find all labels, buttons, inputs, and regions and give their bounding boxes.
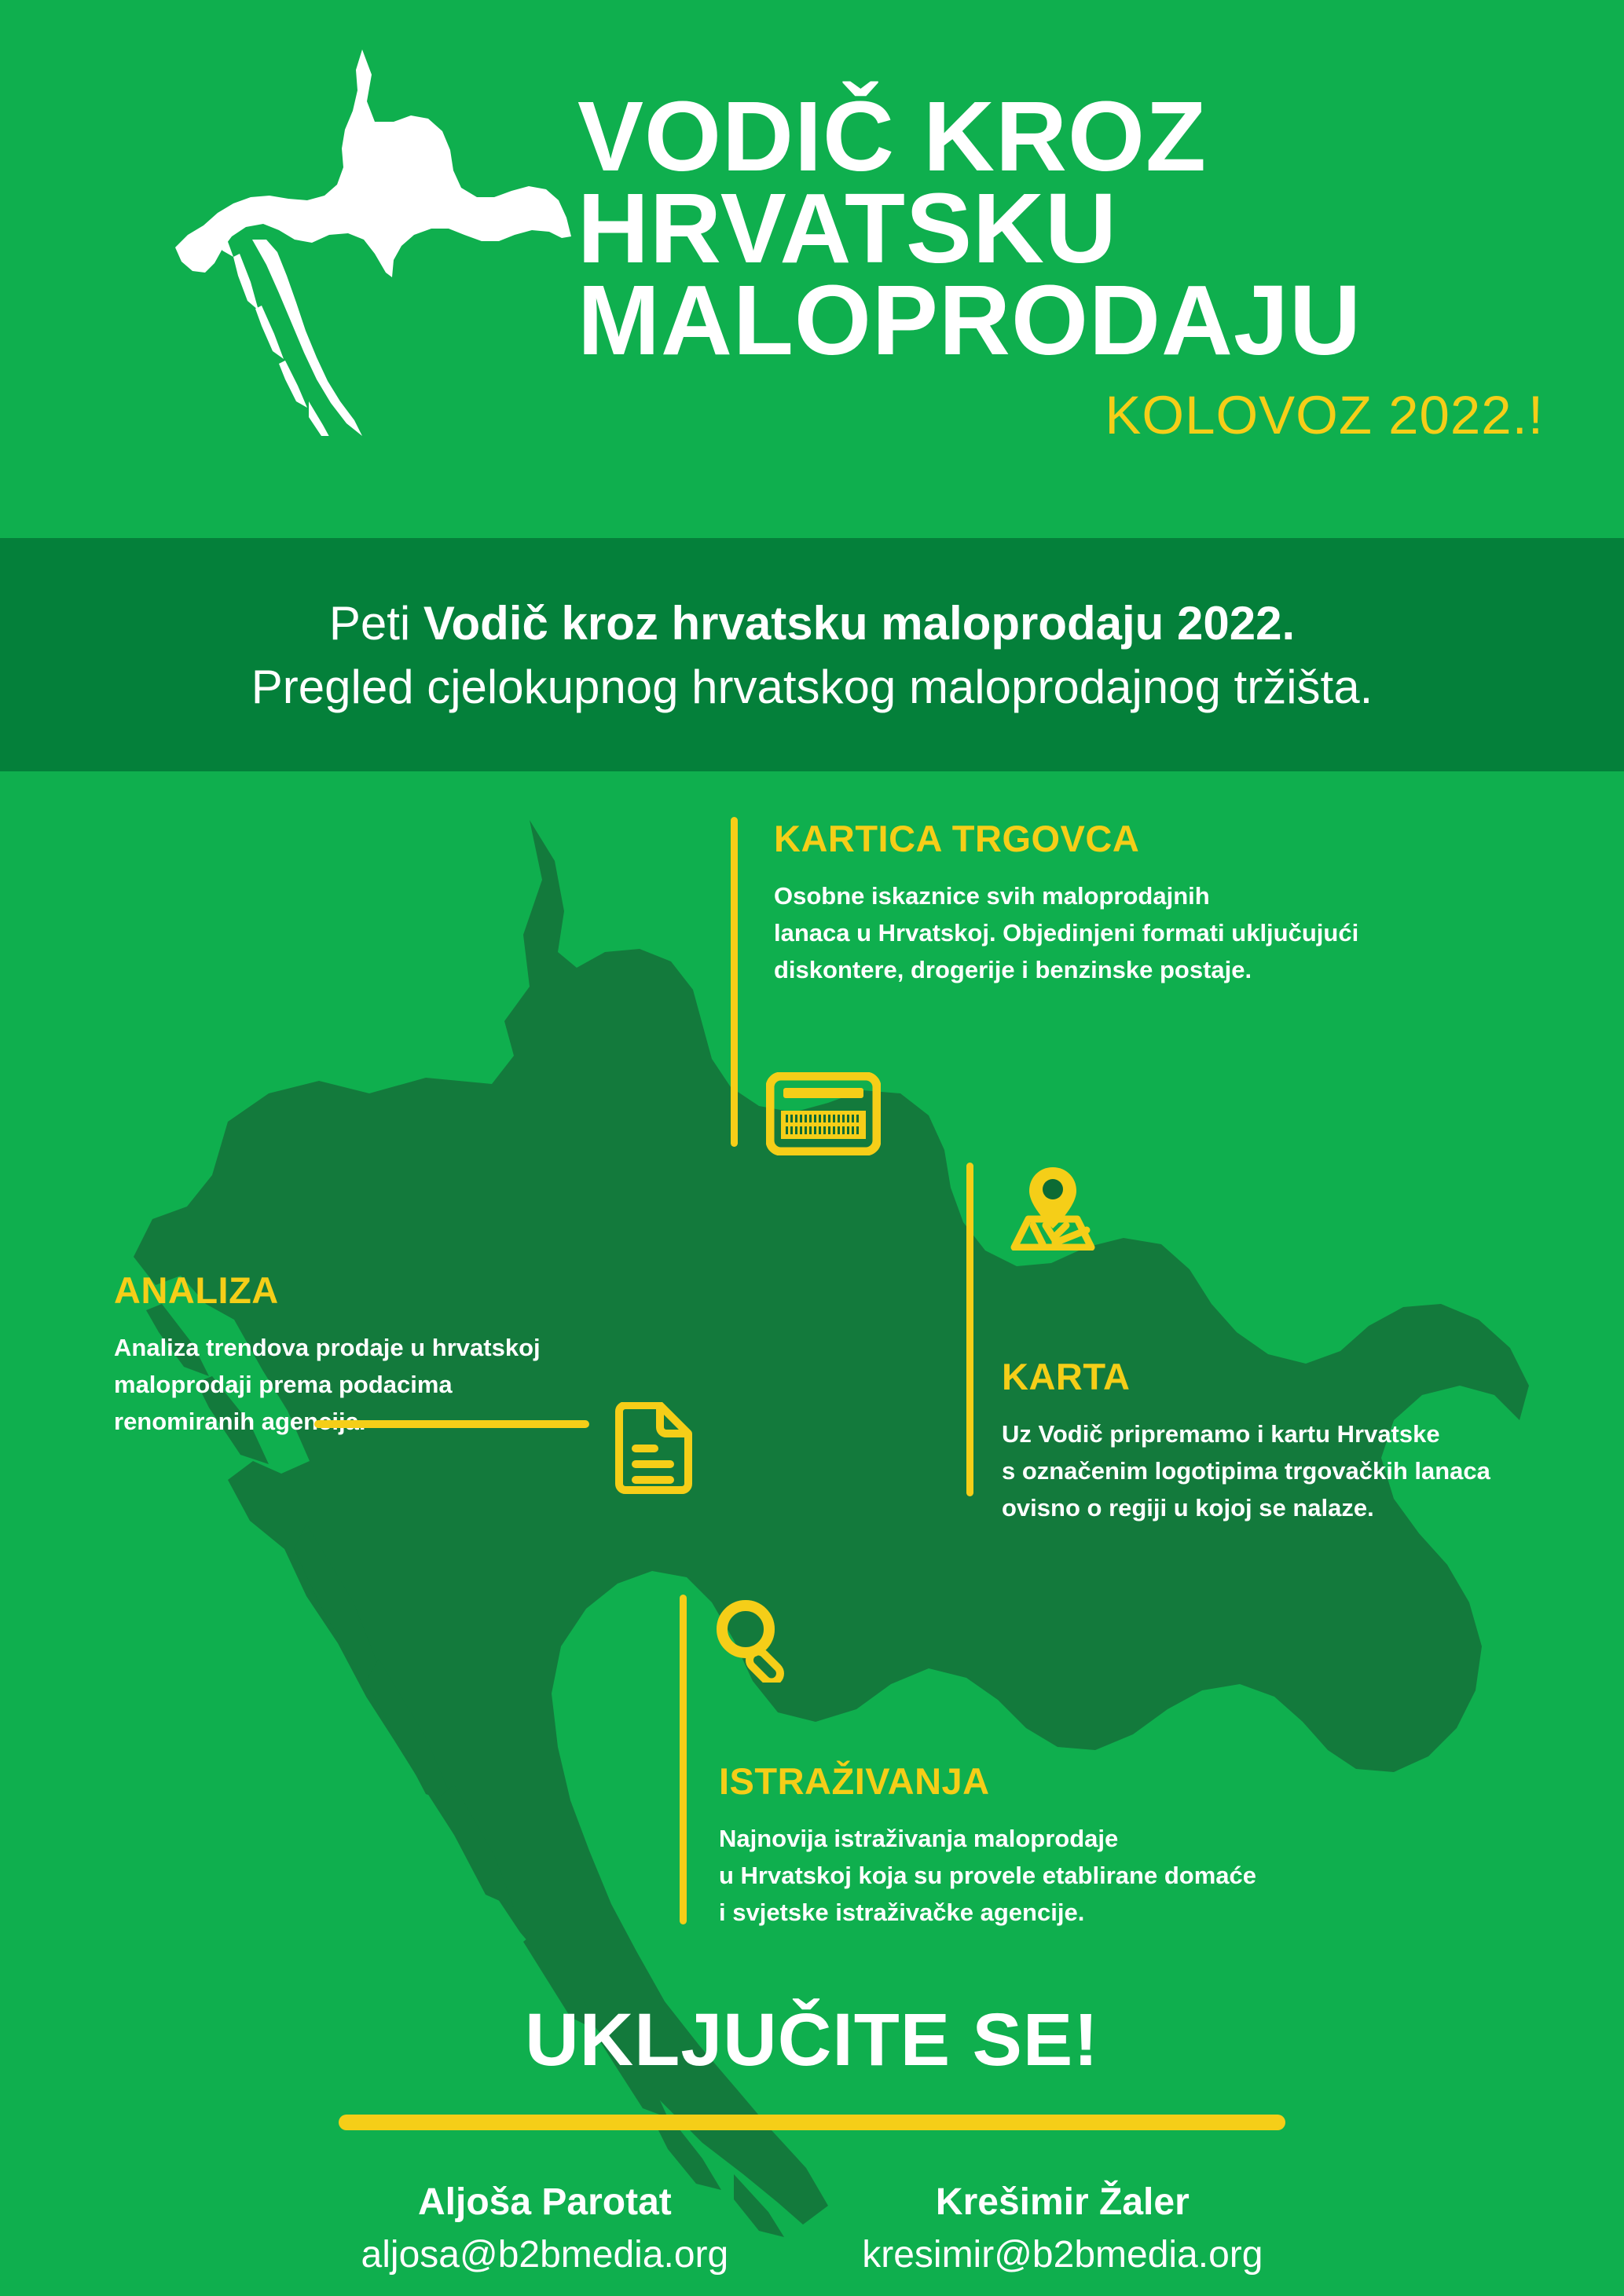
- feature-body-line: Osobne iskaznice svih maloprodajnih: [774, 877, 1481, 914]
- cta-heading: UKLJUČITE SE!: [0, 1999, 1624, 2082]
- feature-karta: KARTA Uz Vodič pripremamo i kartu Hrvats…: [1002, 1355, 1624, 1526]
- magnifier-icon: [711, 1595, 799, 1683]
- contact-email[interactable]: aljosa@b2bmedia.org: [361, 2228, 729, 2283]
- document-icon: [613, 1402, 695, 1500]
- subtitle-bold: Vodič kroz hrvatsku maloprodaju 2022.: [423, 597, 1295, 650]
- poster-footer: UKLJUČITE SE! Aljoša Parotat aljosa@b2bm…: [0, 1999, 1624, 2283]
- contact-name: Aljoša Parotat: [361, 2177, 729, 2228]
- issue-date-label: KOLOVOZ 2022.!: [577, 384, 1575, 446]
- subtitle-band: Peti Vodič kroz hrvatsku maloprodaju 202…: [0, 538, 1624, 771]
- feature-title-karta: KARTA: [1002, 1355, 1624, 1398]
- contact-name: Krešimir Žaler: [862, 2177, 1263, 2228]
- feature-body-line: diskontere, drogerije i benzinske postaj…: [774, 951, 1481, 988]
- feature-body-istrazivanja: Najnovija istraživanja maloprodaje u Hrv…: [719, 1820, 1426, 1931]
- contact-list: Aljoša Parotat aljosa@b2bmedia.org Kreši…: [0, 2177, 1624, 2283]
- feature-title-kartica: KARTICA TRGOVCA: [774, 817, 1481, 860]
- contact-card: Aljoša Parotat aljosa@b2bmedia.org: [361, 2177, 729, 2283]
- poster-header: VODIČ KROZ HRVATSKU MALOPRODAJU KOLOVOZ …: [0, 0, 1624, 538]
- map-pin-icon: [1010, 1163, 1096, 1251]
- contact-card: Krešimir Žaler kresimir@b2bmedia.org: [862, 2177, 1263, 2283]
- feature-body-kartica: Osobne iskaznice svih maloprodajnih lana…: [774, 877, 1481, 988]
- feature-body-karta: Uz Vodič pripremamo i kartu Hrvatske s o…: [1002, 1415, 1624, 1526]
- feature-analiza: ANALIZA Analiza trendova prodaje u hrvat…: [114, 1269, 680, 1440]
- feature-istrazivanja: ISTRAŽIVANJA Najnovija istraživanja malo…: [719, 1760, 1426, 1931]
- rule-kartica: [731, 817, 738, 1147]
- feature-body-line: s označenim logotipima trgovačkih lanaca: [1002, 1452, 1624, 1489]
- rule-istrazivanja: [680, 1595, 687, 1924]
- subtitle-line-2: Pregled cjelokupnog hrvatskog maloprodaj…: [251, 657, 1373, 716]
- feature-title-istrazivanja: ISTRAŽIVANJA: [719, 1760, 1426, 1803]
- feature-body-line: lanaca u Hrvatskoj. Objedinjeni formati …: [774, 914, 1481, 951]
- rule-karta: [966, 1163, 973, 1496]
- feature-body-line: u Hrvatskoj koja su provele etablirane d…: [719, 1857, 1426, 1894]
- title-line-3: MALOPRODAJU: [577, 274, 1575, 366]
- rule-analiza: [314, 1420, 589, 1428]
- footer-divider: [339, 2115, 1285, 2130]
- contact-email[interactable]: kresimir@b2bmedia.org: [862, 2228, 1263, 2283]
- poster-title-block: VODIČ KROZ HRVATSKU MALOPRODAJU KOLOVOZ …: [577, 90, 1575, 446]
- title-line-1: VODIČ KROZ: [577, 90, 1575, 182]
- feature-body-line: Najnovija istraživanja maloprodaje: [719, 1820, 1426, 1857]
- croatia-map-logo-icon: [169, 43, 577, 436]
- credit-card-icon: [766, 1072, 881, 1155]
- poster-root: VODIČ KROZ HRVATSKU MALOPRODAJU KOLOVOZ …: [0, 0, 1624, 2296]
- feature-body-line: i svjetske istraživačke agencije.: [719, 1894, 1426, 1931]
- feature-body-line: Uz Vodič pripremamo i kartu Hrvatske: [1002, 1415, 1624, 1452]
- subtitle-prefix: Peti: [329, 597, 423, 650]
- feature-body-line: Analiza trendova prodaje u hrvatskoj: [114, 1329, 680, 1366]
- feature-body-line: ovisno o regiji u kojoj se nalaze.: [1002, 1489, 1624, 1526]
- title-line-2: HRVATSKU: [577, 182, 1575, 274]
- feature-kartica-trgovca: KARTICA TRGOVCA Osobne iskaznice svih ma…: [774, 817, 1481, 988]
- feature-title-analiza: ANALIZA: [114, 1269, 680, 1312]
- subtitle-line-1: Peti Vodič kroz hrvatsku maloprodaju 202…: [329, 594, 1295, 653]
- feature-body-line: maloprodaji prema podacima: [114, 1366, 680, 1403]
